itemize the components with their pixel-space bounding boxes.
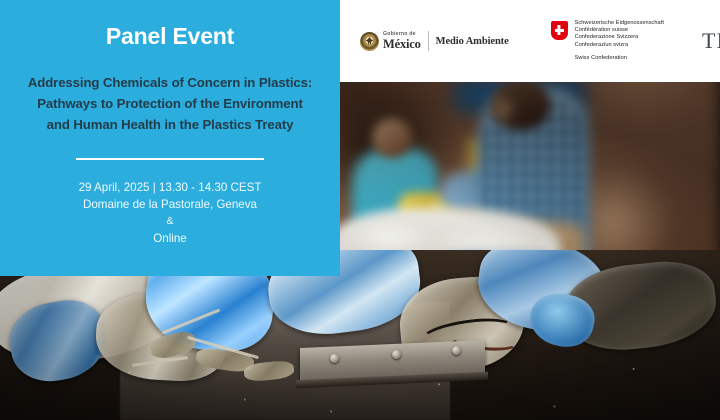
event-datetime: 29 April, 2025 | 13.30 - 14.30 CEST (14, 179, 326, 197)
event-online-mode: Online (14, 230, 326, 248)
event-info-panel: Panel Event Addressing Chemicals of Conc… (0, 0, 340, 276)
swiss-line-en: Swiss Confederation (575, 55, 664, 62)
conveyor-rivet (392, 350, 401, 359)
panel-event-details: 29 April, 2025 | 13.30 - 14.30 CEST Doma… (14, 179, 326, 248)
swiss-cross-shield-icon (551, 21, 568, 40)
conveyor-rivet (452, 346, 461, 355)
logo-gobierno-de-mexico: Gobierno de México Medio Ambiente (360, 31, 509, 51)
medio-ambiente-wordmark: Medio Ambiente (436, 36, 509, 47)
subtitle-line-3: and Human Health in the Plastics Treaty (20, 115, 320, 136)
swiss-line-de: Schweizerische Eidgenossenschaft (575, 20, 664, 27)
swiss-line-it: Confederazione Svizzera (575, 34, 664, 41)
panel-divider-rule (76, 158, 264, 160)
mexico-wordmark: México (383, 38, 421, 51)
subtitle-line-1: Addressing Chemicals of Concern in Plast… (20, 73, 320, 94)
logo-tess: TESS Forum on Trade, Environment, & the … (702, 28, 720, 54)
panel-event-title: Panel Event (14, 23, 326, 50)
mexico-eagle-emblem-icon (360, 32, 379, 51)
panel-event-subtitle: Addressing Chemicals of Concern in Plast… (14, 73, 326, 136)
subtitle-line-2: Pathways to Protection of the Environmen… (20, 94, 320, 115)
event-venue: Domaine de la Pastorale, Geneva (14, 196, 326, 214)
tess-wordmark: TESS (702, 28, 720, 54)
event-poster: Gobierno de México Medio Ambiente Schwei… (0, 0, 720, 420)
conveyor-rivet (330, 354, 339, 363)
swiss-line-rm: Confederaziun svizra (575, 42, 664, 49)
swiss-line-fr: Confédération suisse (575, 27, 664, 34)
logo-divider (428, 31, 429, 51)
logo-band: Gobierno de México Medio Ambiente Schwei… (340, 0, 720, 82)
photo-worker-face (487, 92, 517, 126)
event-ampersand: & (14, 214, 326, 230)
photo-worker-teal-head (372, 118, 412, 158)
logo-swiss-confederation: Schweizerische Eidgenossenschaft Confédé… (551, 20, 664, 63)
